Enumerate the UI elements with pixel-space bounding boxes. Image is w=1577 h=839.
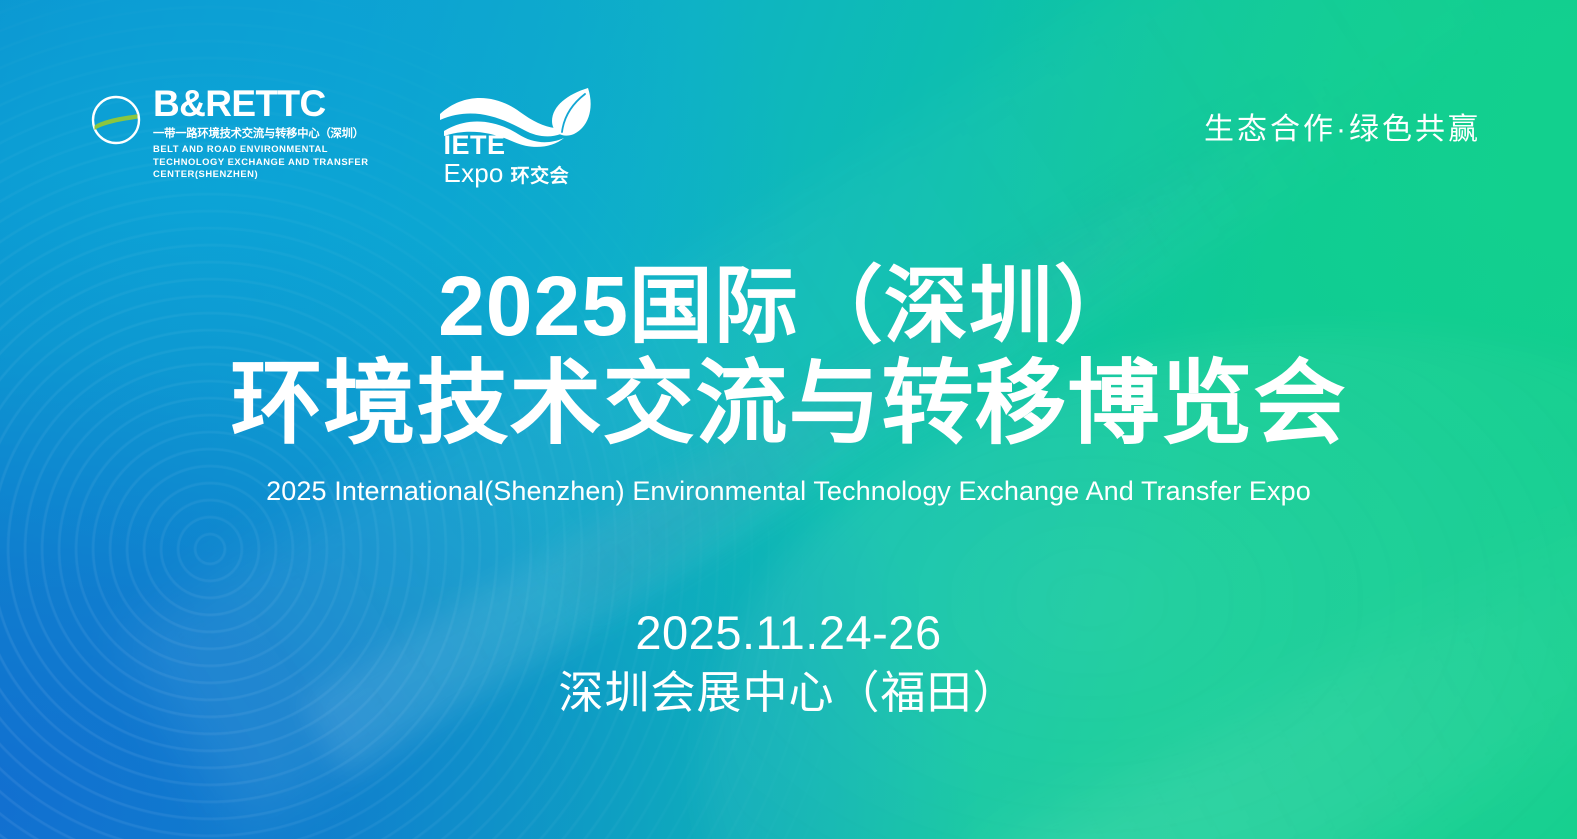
title-line-two: 环境技术交流与转移博览会	[0, 354, 1577, 454]
brettc-text-block: B&RETTC 一带一路环境技术交流与转移中心（深圳） BELT AND ROA…	[153, 86, 369, 181]
brettc-english-line-1: BELT AND ROAD ENVIRONMENTAL	[153, 143, 369, 156]
brettc-logo[interactable]: B&RETTC 一带一路环境技术交流与转移中心（深圳） BELT AND ROA…	[88, 86, 369, 181]
event-meta-block: 2025.11.24-26 深圳会展中心（福田）	[0, 605, 1577, 722]
title-block: 2025国际（深圳） 环境技术交流与转移博览会 2025 Internation…	[0, 262, 1577, 507]
iete-expo-logo[interactable]: IETE Expo 环交会	[438, 86, 598, 190]
brettc-english-line-2: TECHNOLOGY EXCHANGE AND TRANSFER	[153, 156, 369, 169]
brettc-chinese-name: 一带一路环境技术交流与转移中心（深圳）	[153, 125, 369, 141]
event-venue: 深圳会展中心（福田）	[0, 665, 1577, 721]
iete-expo-word: Expo	[444, 160, 504, 187]
iete-wordmark: IETE Expo 环交会	[444, 132, 570, 188]
iete-chinese-name: 环交会	[511, 161, 570, 188]
title-english: 2025 International(Shenzhen) Environment…	[0, 476, 1577, 507]
logo-row: B&RETTC 一带一路环境技术交流与转移中心（深圳） BELT AND ROA…	[88, 86, 598, 190]
iete-subline: Expo 环交会	[444, 160, 570, 188]
title-line-one: 2025国际（深圳）	[0, 262, 1577, 352]
slogan-text: 生态合作·绿色共赢	[1204, 104, 1481, 148]
event-date: 2025.11.24-26	[0, 605, 1577, 661]
globe-icon	[88, 92, 144, 148]
iete-acronym: IETE	[444, 132, 570, 159]
brettc-english-line-3: CENTER(SHENZHEN)	[153, 168, 369, 181]
brettc-english-name: BELT AND ROAD ENVIRONMENTAL TECHNOLOGY E…	[153, 143, 369, 181]
logo-divider	[403, 86, 404, 190]
event-banner: B&RETTC 一带一路环境技术交流与转移中心（深圳） BELT AND ROA…	[0, 0, 1577, 839]
brettc-wordmark: B&RETTC	[153, 86, 369, 122]
